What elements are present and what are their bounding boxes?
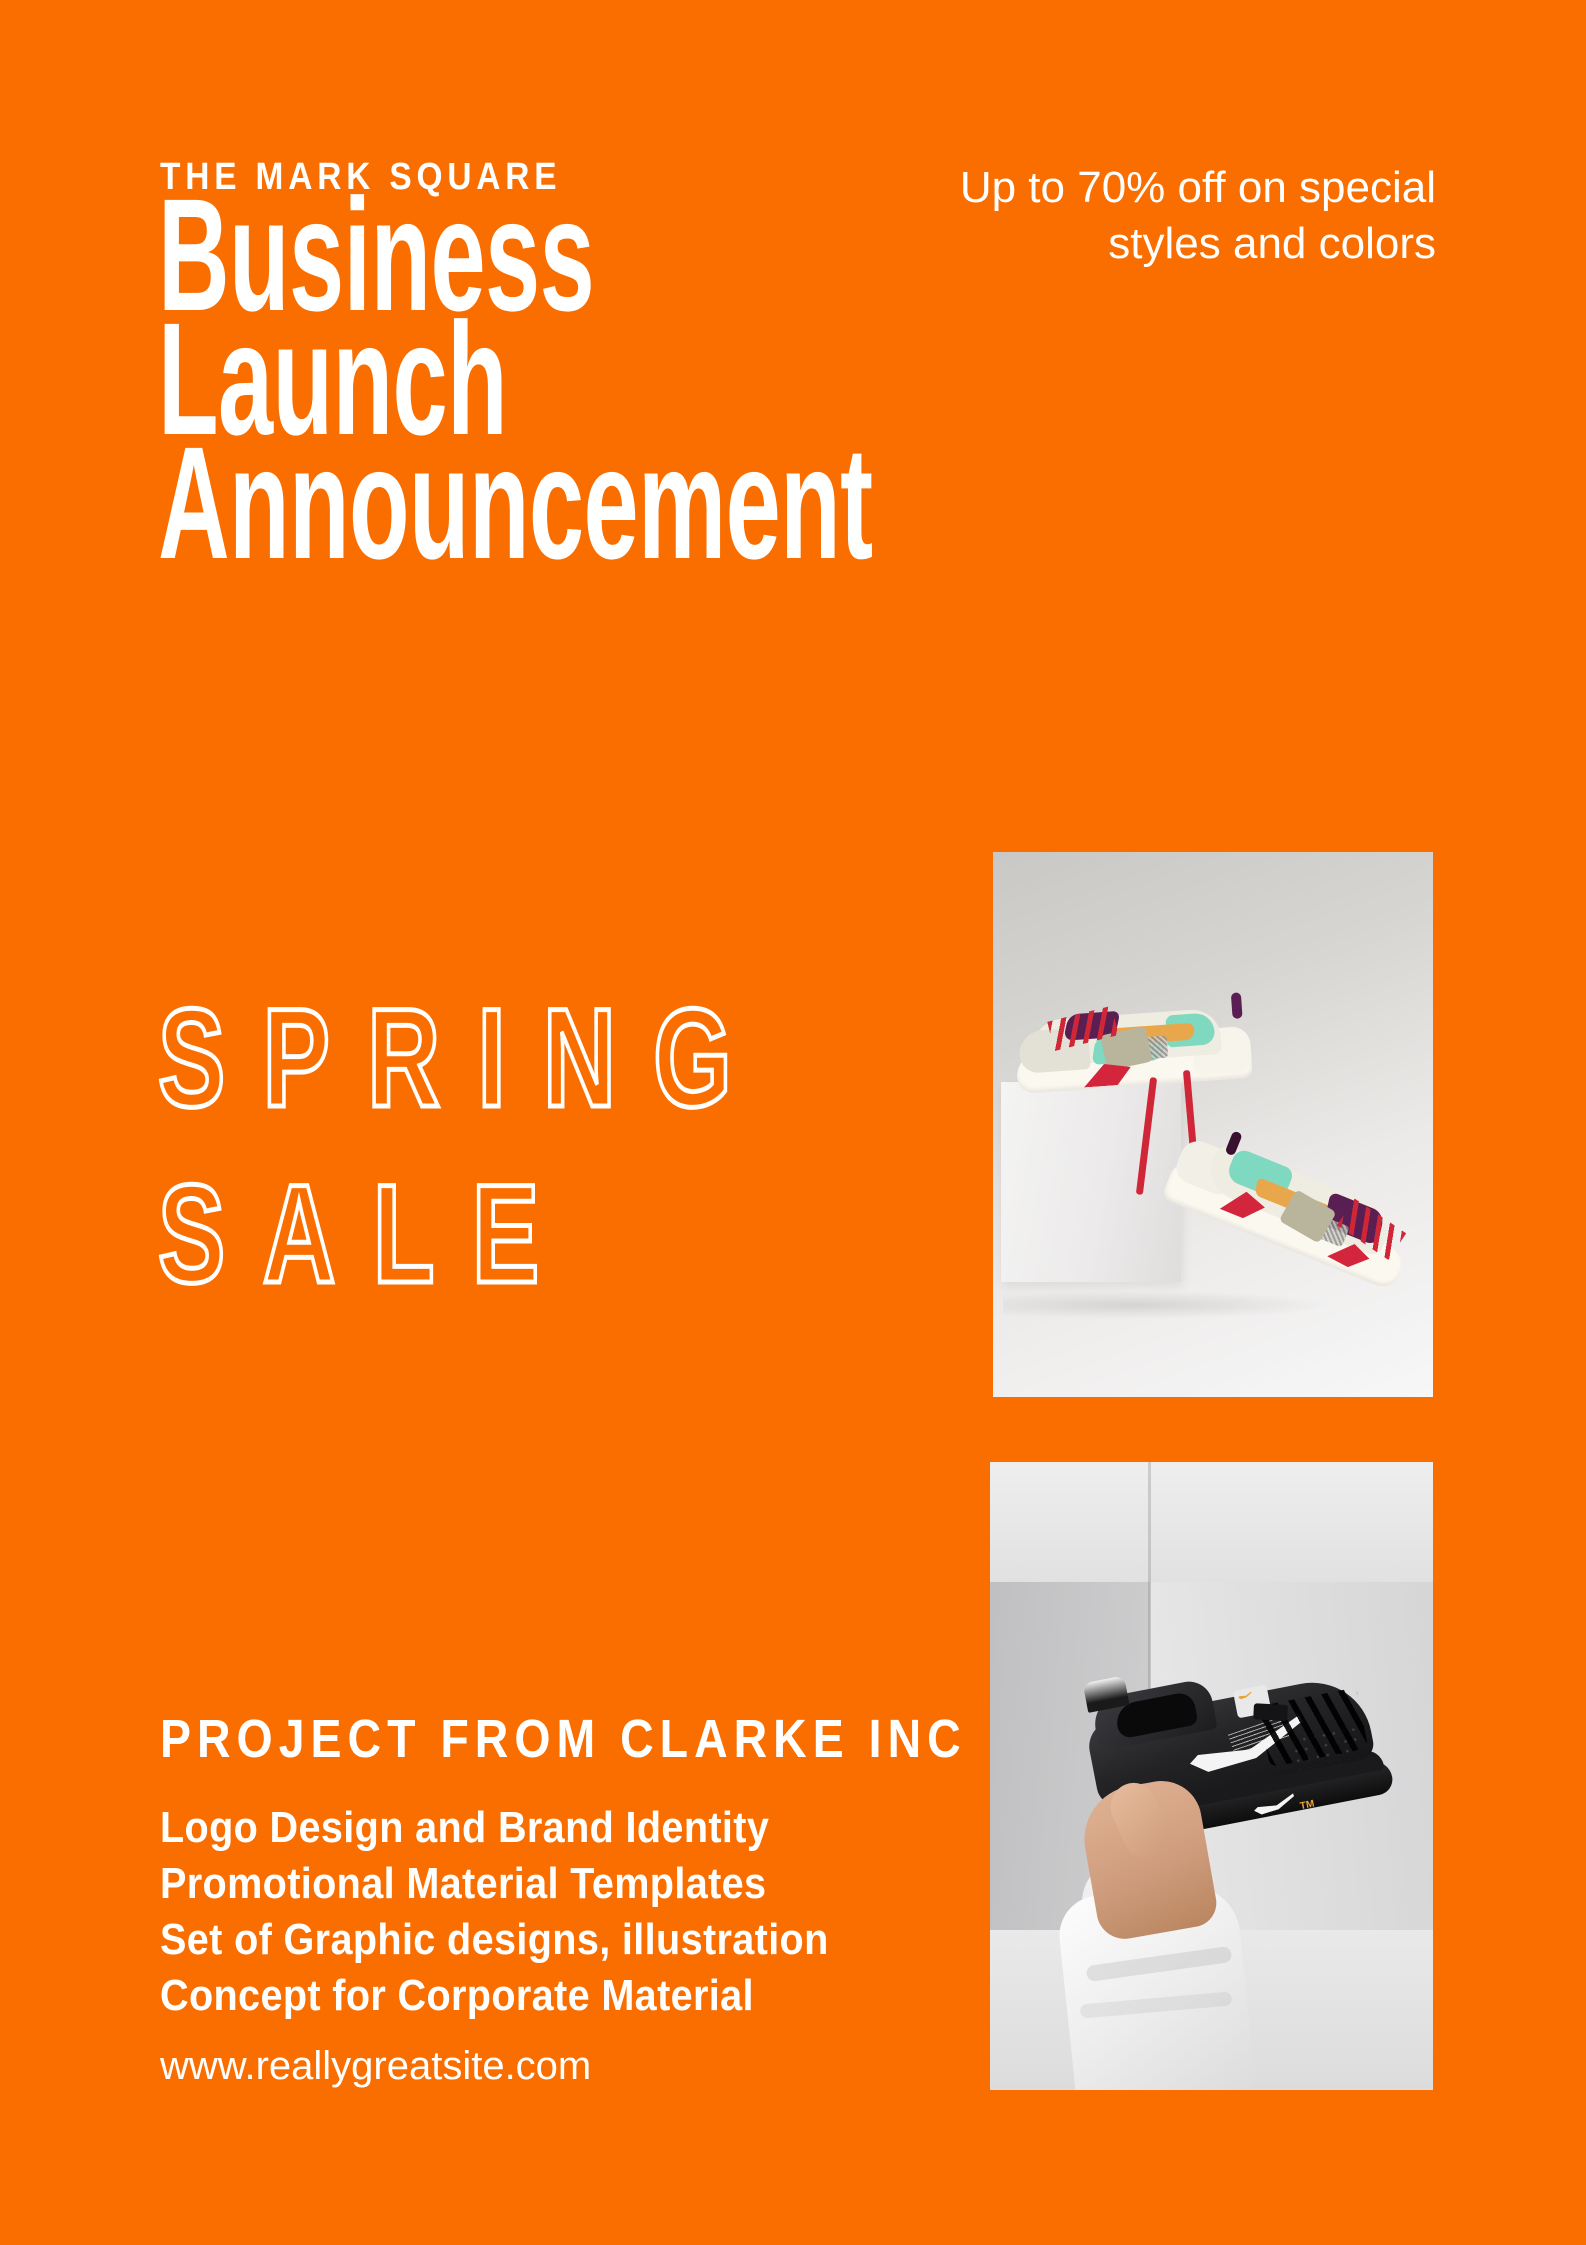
- services-list: Logo Design and Brand Identity Promotion…: [160, 1800, 903, 2024]
- spring-sale-heading: SPRING SALE: [158, 988, 1007, 1304]
- poster-canvas: THE MARK SQUARE Up to 70% off on special…: [0, 0, 1586, 2245]
- pedestal-box: [1001, 1082, 1181, 1282]
- sneaker-heel-tab: [1231, 992, 1243, 1019]
- trademark-label: TM: [1299, 1799, 1315, 1813]
- product-photo-colorful-sneakers: [993, 852, 1433, 1397]
- list-item: Set of Graphic designs, illustration: [160, 1912, 829, 1968]
- sneaker-lower: [1153, 1050, 1433, 1311]
- project-title: PROJECT FROM CLARKE INC: [160, 1712, 967, 1766]
- page-title: Business Launch Announcement: [158, 196, 1310, 568]
- list-item: Concept for Corporate Material: [160, 1968, 829, 2024]
- sale-line-sale: SALE: [158, 1164, 769, 1304]
- headline-line-3: Announcement: [158, 444, 873, 562]
- product-photo-black-sneaker: AIR TM: [990, 1462, 1433, 2090]
- photo-floor-shadow: [1003, 1291, 1333, 1319]
- list-item: Logo Design and Brand Identity: [160, 1800, 829, 1856]
- photo-ceiling: [990, 1462, 1433, 1582]
- sneaker-tongue-label: [1253, 1703, 1288, 1721]
- sale-line-spring: SPRING: [158, 988, 769, 1128]
- list-item: Promotional Material Templates: [160, 1856, 829, 1912]
- website-url: www.reallygreatsite.com: [160, 2046, 591, 2086]
